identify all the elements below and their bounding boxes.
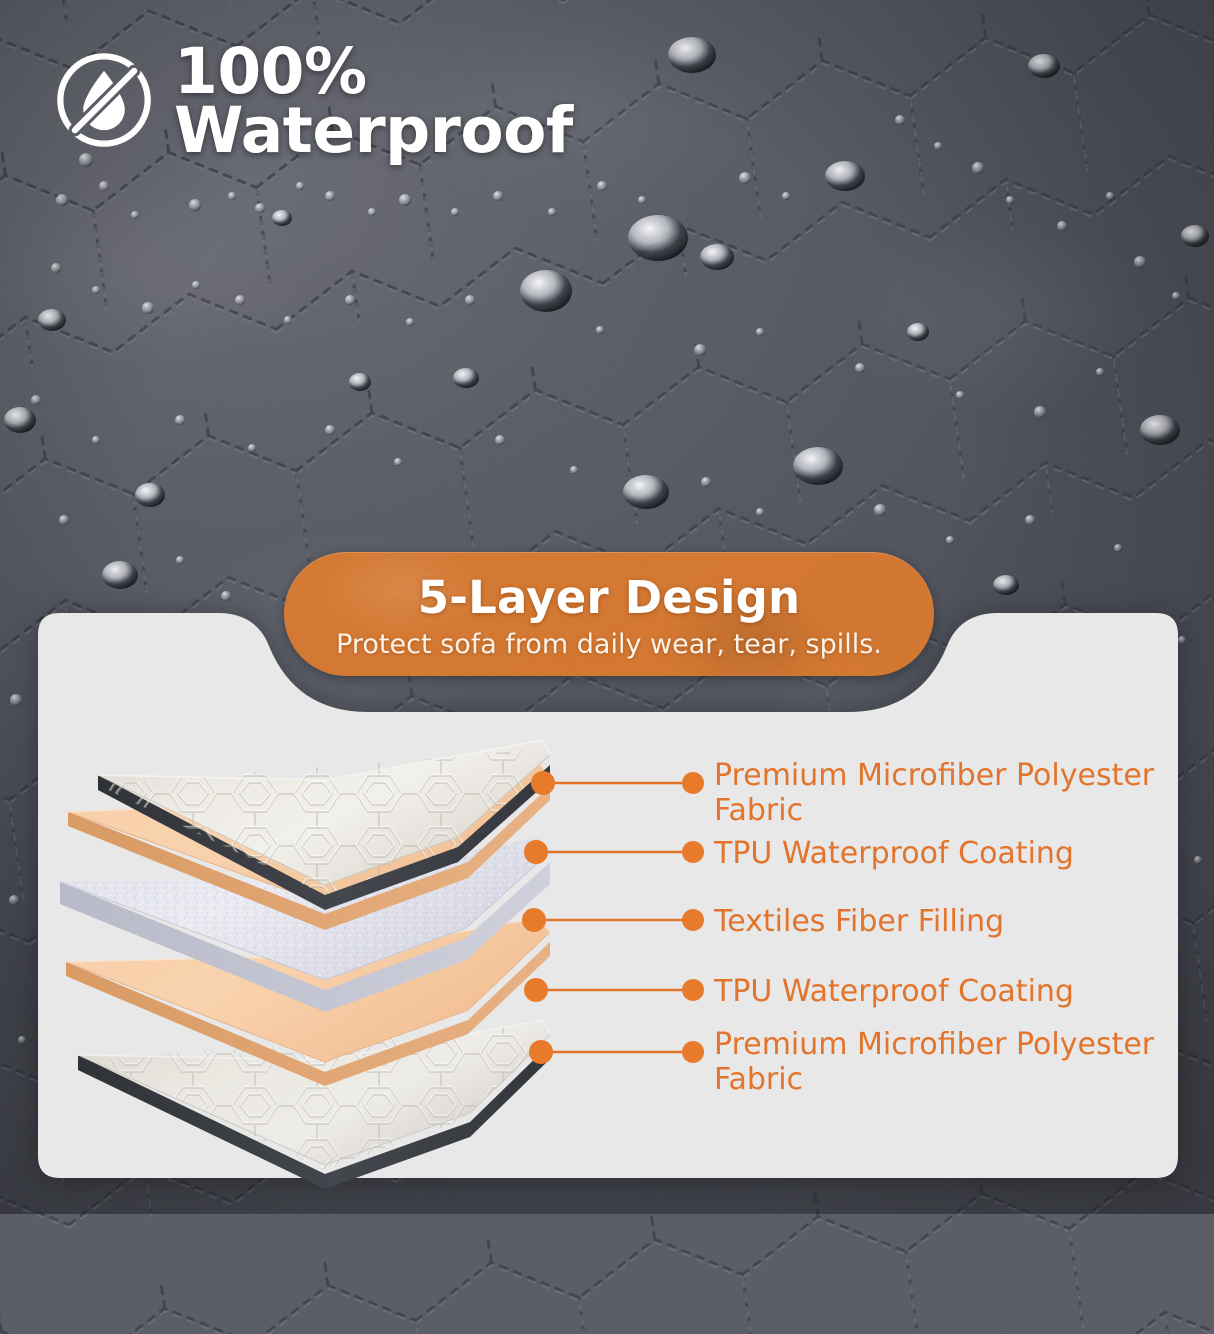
callout-3-line-1: Textiles Fiber Filling: [714, 904, 1004, 939]
badge-title: 5-Layer Design: [418, 575, 801, 620]
layer-dot-4: [524, 978, 548, 1002]
five-layer-design-badge: 5-Layer Design Protect sofa from daily w…: [284, 552, 934, 676]
callout-label-4: TPU Waterproof Coating: [714, 974, 1184, 1009]
no-water-drop-icon: [52, 48, 156, 152]
callout-label-2: TPU Waterproof Coating: [714, 836, 1184, 871]
layer-dot-3: [522, 908, 546, 932]
callout-dots: [522, 771, 704, 1064]
layer-dot-5: [529, 1040, 553, 1064]
callout-label-3: Textiles Fiber Filling: [714, 904, 1184, 939]
label-dot-3: [682, 909, 704, 931]
callout-1-line-1: Premium Microfiber Polyester: [714, 758, 1154, 793]
callout-2-line-1: TPU Waterproof Coating: [714, 836, 1074, 871]
badge-subtitle: Protect sofa from daily wear, tear, spil…: [336, 631, 882, 658]
waterproof-text-block: 100% Waterproof: [174, 42, 573, 160]
callout-leader-lines: [534, 783, 693, 1052]
waterproof-line-2: Waterproof: [174, 101, 573, 160]
layer-dot-1: [531, 771, 555, 795]
callout-5-line-2: Fabric: [714, 1062, 803, 1097]
label-dot-2: [682, 841, 704, 863]
waterproof-headline: 100% Waterproof: [52, 42, 573, 160]
label-dot-1: [682, 772, 704, 794]
callout-4-line-1: TPU Waterproof Coating: [714, 974, 1074, 1009]
label-dot-4: [682, 979, 704, 1001]
layer-dot-2: [524, 840, 548, 864]
callout-1-line-2: Fabric: [714, 793, 803, 828]
callout-label-5: Premium Microfiber Polyester Fabric: [714, 1027, 1184, 1097]
label-dot-5: [682, 1041, 704, 1063]
callout-5-line-1: Premium Microfiber Polyester: [714, 1027, 1154, 1062]
callout-label-1: Premium Microfiber Polyester Fabric: [714, 758, 1184, 828]
